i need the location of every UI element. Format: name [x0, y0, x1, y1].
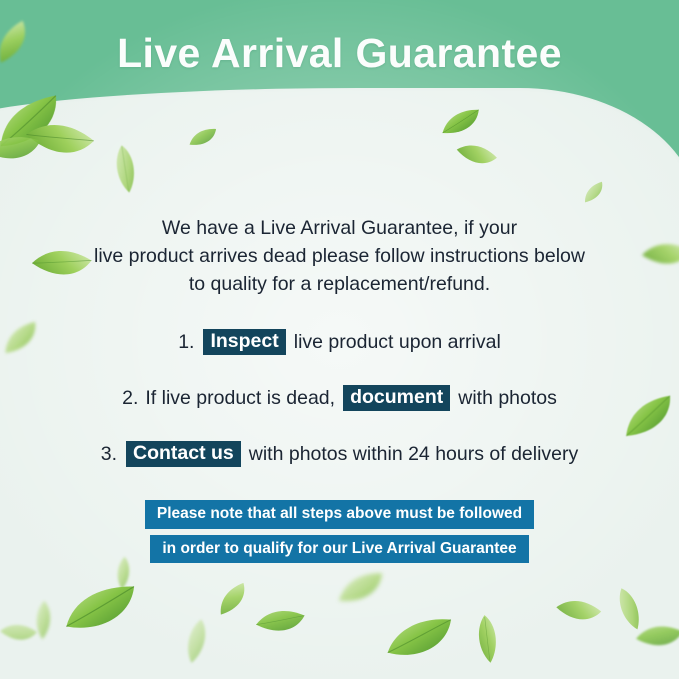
notice-line-1: Please note that all steps above must be… — [145, 500, 534, 529]
step-item-3: 3. Contact us with photos within 24 hour… — [0, 434, 679, 474]
step-text-pre: If live product is dead, — [145, 387, 335, 410]
step-highlight-contact-us: Contact us — [126, 441, 241, 468]
intro-line-2: live product arrives dead please follow … — [0, 242, 679, 270]
step-highlight-inspect: Inspect — [203, 329, 285, 356]
step-number: 3. — [101, 443, 117, 466]
step-number: 2. — [122, 387, 138, 410]
step-text: with photos within 24 hours of delivery — [249, 443, 579, 466]
step-highlight-document: document — [343, 385, 450, 412]
step-text: live product upon arrival — [294, 331, 501, 354]
step-item-1: 1. Inspect live product upon arrival — [0, 322, 679, 362]
page-title: Live Arrival Guarantee — [0, 30, 679, 77]
intro-line-3: to quality for a replacement/refund. — [0, 270, 679, 298]
step-number: 1. — [178, 331, 194, 354]
intro-paragraph: We have a Live Arrival Guarantee, if you… — [0, 214, 679, 298]
notice-line-2: in order to qualify for our Live Arrival… — [150, 535, 528, 564]
live-arrival-guarantee-poster: Live Arrival Guarantee We have a Live Ar… — [0, 0, 679, 679]
step-text: with photos — [458, 387, 557, 410]
intro-line-1: We have a Live Arrival Guarantee, if you… — [0, 214, 679, 242]
steps-list: 1. Inspect live product upon arrival 2. … — [0, 322, 679, 490]
step-item-2: 2. If live product is dead, document wit… — [0, 378, 679, 418]
notice-banner: Please note that all steps above must be… — [0, 500, 679, 569]
